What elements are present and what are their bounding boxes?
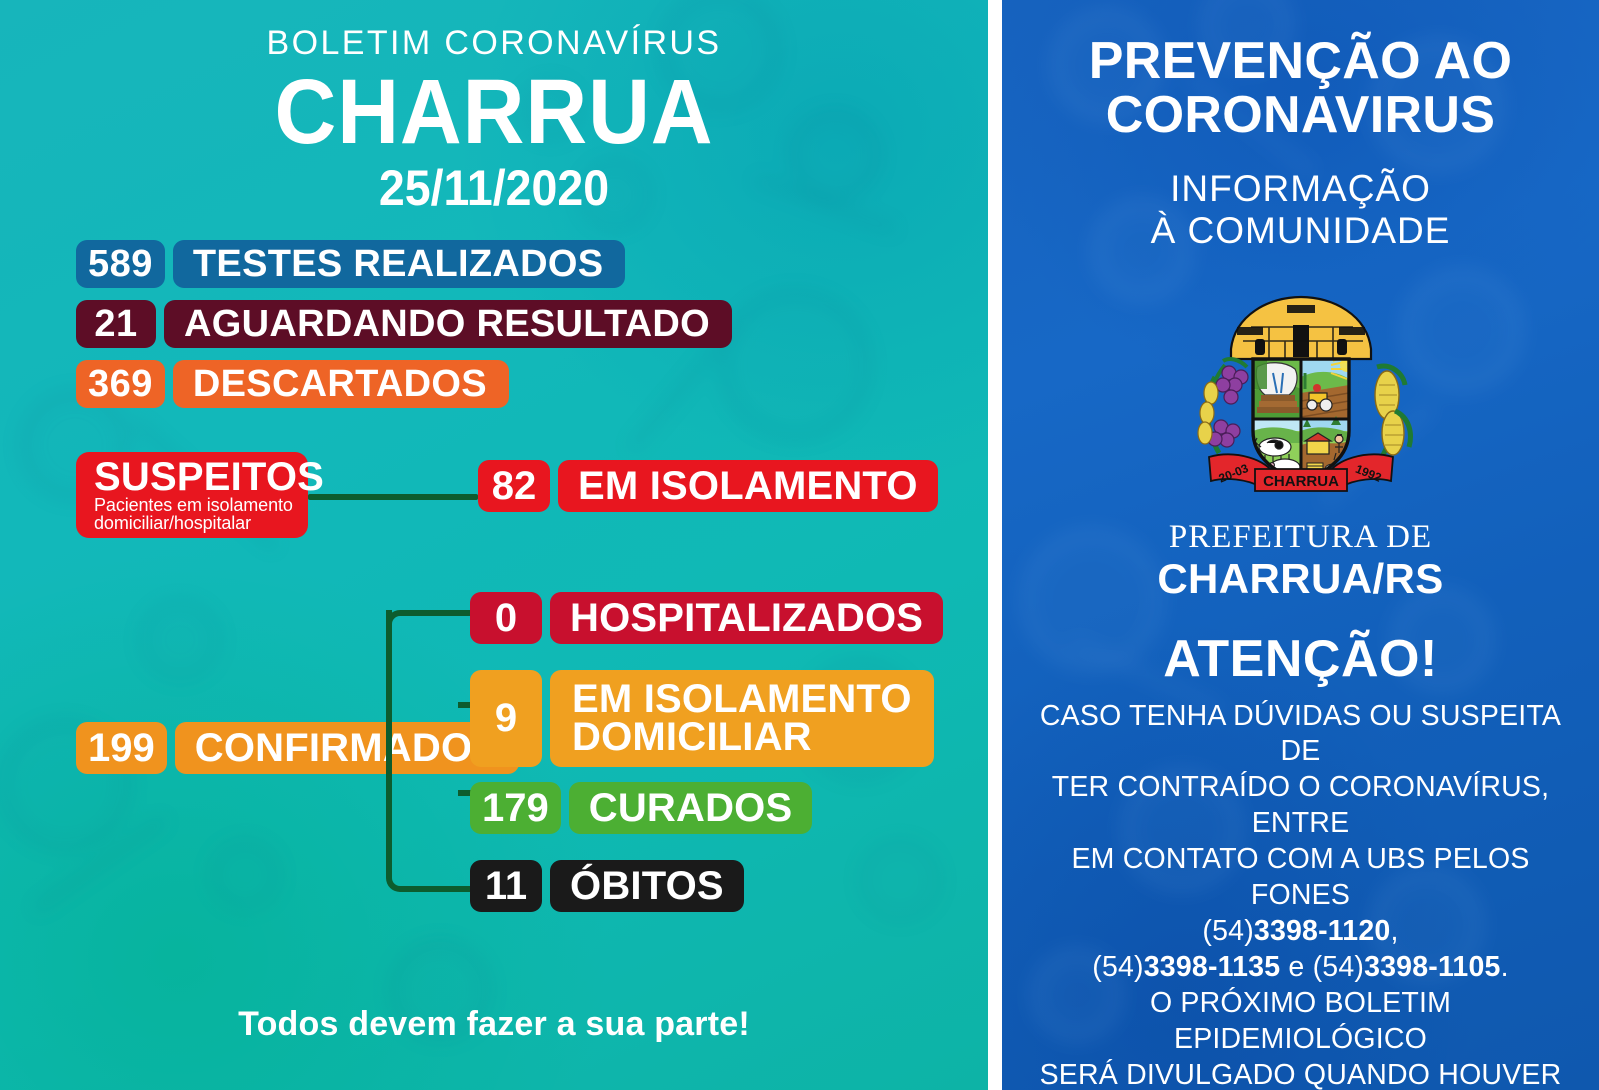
bulletin-date: 25/11/2020 — [35, 162, 954, 215]
suspects-subtitle-line1: Pacientes em isolamento — [94, 497, 296, 515]
phone-line-1: (54)3398-1120, — [1028, 914, 1573, 950]
deaths-label: ÓBITOS — [550, 860, 744, 912]
isolation-value: 82 — [478, 460, 550, 512]
phone-number-3: 3398-1105 — [1364, 951, 1501, 983]
contact-line-4: O PRÓXIMO BOLETIM EPIDEMIOLÓGICO — [1028, 986, 1573, 1058]
stat-label: TESTES REALIZADOS — [173, 240, 625, 288]
home-isolation-label-line2: DOMICILIAR — [572, 718, 812, 756]
branch-spine — [386, 610, 392, 876]
phone3-area-code: (54) — [1313, 951, 1364, 983]
city-title: CHARRUA — [35, 66, 954, 160]
prevention-subtitle-line2: À COMUNIDADE — [1028, 210, 1573, 251]
footer-tagline: Todos devem fazer a sua parte! — [0, 1005, 988, 1044]
suspects-box: SUSPEITOS Pacientes em isolamento domici… — [76, 452, 308, 538]
stat-label: AGUARDANDO RESULTADO — [164, 300, 732, 348]
stat-row-awaiting: 21 AGUARDANDO RESULTADO — [76, 300, 988, 348]
branch-corner-bottom — [386, 858, 420, 892]
contact-line-1: CASO TENHA DÚVIDAS OU SUSPEITA DE — [1028, 699, 1573, 771]
suspects-section: SUSPEITOS Pacientes em isolamento domici… — [0, 452, 988, 548]
contact-line-5: SERÁ DIVULGADO QUANDO HOUVER — [1028, 1058, 1573, 1090]
stat-value: 369 — [76, 360, 165, 408]
stat-label: DESCARTADOS — [173, 360, 509, 408]
stat-row-tests: 589 TESTES REALIZADOS — [76, 240, 988, 288]
prevention-title-line1: PREVENÇÃO AO — [1028, 34, 1573, 88]
stat-row-discarded: 369 DESCARTADOS — [76, 360, 988, 408]
tree-item-deaths: 11 ÓBITOS — [470, 860, 744, 912]
suspects-isolation-item: 82 EM ISOLAMENTO — [478, 460, 938, 512]
prevention-content: PREVENÇÃO AO CORONAVIRUS INFORMAÇÃO À CO… — [1002, 34, 1599, 1090]
isolation-label: EM ISOLAMENTO — [558, 460, 938, 512]
poster: BOLETIM CORONAVÍRUS CHARRUA 25/11/2020 5… — [0, 0, 1599, 1090]
phone1-area-code: (54) — [1202, 915, 1253, 947]
phone-conjunction: e — [1280, 951, 1312, 983]
confirmed-value: 199 — [76, 722, 167, 774]
hospitalized-value: 0 — [470, 592, 542, 644]
phone2-area-code: (54) — [1092, 951, 1143, 983]
suspects-subtitle-line2: domiciliar/hospitalar — [94, 515, 296, 533]
bulletin-kicker: BOLETIM CORONAVÍRUS — [0, 26, 988, 62]
stat-value: 589 — [76, 240, 165, 288]
cured-value: 179 — [470, 782, 561, 834]
phone-number-2: 3398-1135 — [1144, 951, 1281, 983]
city-state-label: CHARRUA/RS — [1028, 556, 1573, 602]
stat-value: 21 — [76, 300, 156, 348]
crest-motto-center: CHARRUA — [1263, 473, 1339, 490]
home-isolation-label-line1: EM ISOLAMENTO — [572, 680, 912, 718]
phone-line-2: (54)3398-1135 e (54)3398-1105. — [1028, 950, 1573, 986]
coat-of-arms-icon: CHARRUA 20-03 1992 — [1181, 281, 1421, 503]
home-isolation-label: EM ISOLAMENTO DOMICILIAR — [550, 670, 934, 767]
phone-number-1: 3398-1120 — [1254, 915, 1391, 947]
tree-item-home-isolation: 9 EM ISOLAMENTO DOMICILIAR — [470, 670, 934, 767]
suspects-title: SUSPEITOS — [94, 459, 296, 496]
prevention-title-line2: CORONAVIRUS — [1028, 88, 1573, 142]
bulletin-header: BOLETIM CORONAVÍRUS CHARRUA 25/11/2020 — [0, 0, 988, 214]
tree-item-hospitalized: 0 HOSPITALIZADOS — [470, 592, 943, 644]
suspects-connector-line — [308, 494, 478, 500]
confirmed-tree: 199 CONFIRMADOS 0 HOSPITALIZADOS 9 EM IS… — [0, 592, 988, 922]
contact-line-2: TER CONTRAÍDO O CORONAVÍRUS, ENTRE — [1028, 770, 1573, 842]
prevention-subtitle-line1: INFORMAÇÃO — [1028, 168, 1573, 209]
cured-label: CURADOS — [569, 782, 813, 834]
attention-heading: ATENÇÃO! — [1028, 629, 1573, 689]
bulletin-panel: BOLETIM CORONAVÍRUS CHARRUA 25/11/2020 5… — [0, 0, 988, 1090]
stat-rows: 589 TESTES REALIZADOS 21 AGUARDANDO RESU… — [0, 240, 988, 408]
contact-line-3: EM CONTATO COM A UBS PELOS FONES — [1028, 842, 1573, 914]
phone1-separator: , — [1390, 915, 1398, 947]
panel-divider — [988, 0, 1002, 1090]
tree-item-cured: 179 CURADOS — [470, 782, 812, 834]
deaths-value: 11 — [470, 860, 542, 912]
prefeitura-label: PREFEITURA DE — [1028, 519, 1573, 555]
contact-body: CASO TENHA DÚVIDAS OU SUSPEITA DE TER CO… — [1028, 699, 1573, 1090]
hospitalized-label: HOSPITALIZADOS — [550, 592, 943, 644]
home-isolation-value: 9 — [470, 670, 542, 767]
coat-of-arms: CHARRUA 20-03 1992 — [1181, 281, 1421, 503]
prevention-subtitle: INFORMAÇÃO À COMUNIDADE — [1028, 168, 1573, 251]
phone3-separator: . — [1501, 951, 1509, 983]
prevention-panel: PREVENÇÃO AO CORONAVIRUS INFORMAÇÃO À CO… — [1002, 0, 1599, 1090]
prevention-title: PREVENÇÃO AO CORONAVIRUS — [1028, 34, 1573, 142]
